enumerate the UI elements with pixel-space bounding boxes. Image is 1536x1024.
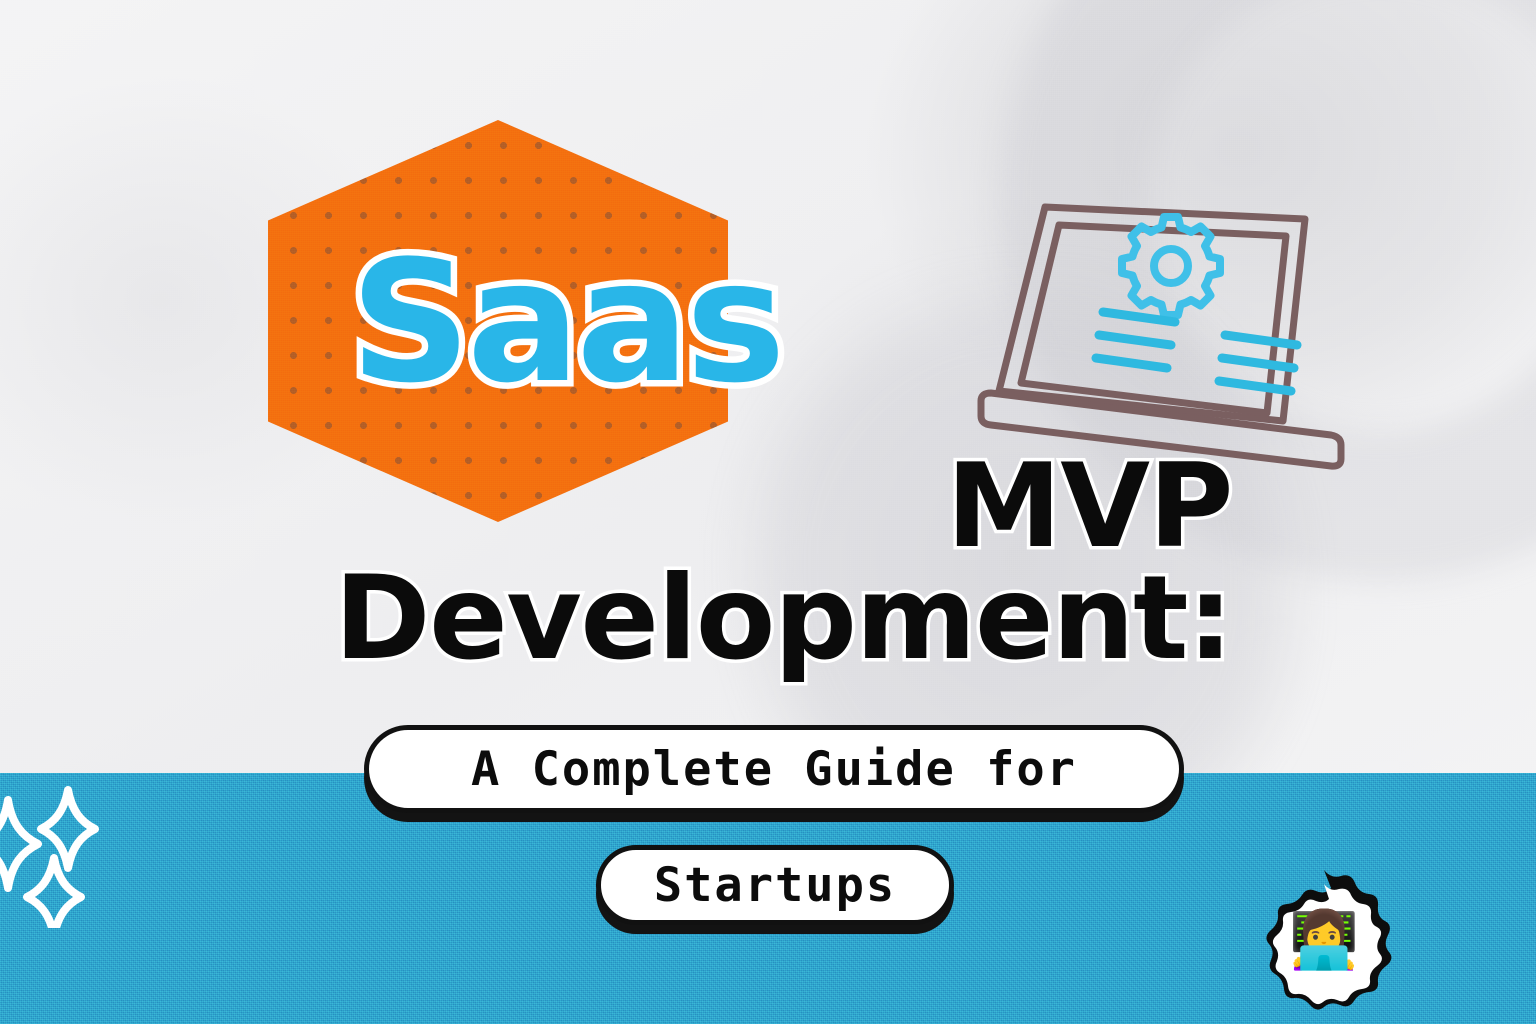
avatar-person-with-laptop-icon: 👩‍💻	[1248, 866, 1400, 1014]
subtitle-pill-2: Startups	[596, 845, 954, 925]
saas-wordmark: Saas	[350, 238, 782, 406]
headline-line-1: MVP	[332, 452, 1232, 562]
subtitle-pill-1: A Complete Guide for	[364, 725, 1184, 813]
page-title: MVP Development:	[332, 452, 1232, 674]
sparkles-icon	[0, 778, 152, 928]
sparkles-svg	[0, 778, 152, 928]
avatar-badge: 👩‍💻	[1248, 866, 1400, 1014]
headline-line-2: Development:	[332, 564, 1232, 674]
cover-canvas: Saas	[0, 0, 1536, 1024]
screen-text-lines-left	[1096, 312, 1175, 368]
